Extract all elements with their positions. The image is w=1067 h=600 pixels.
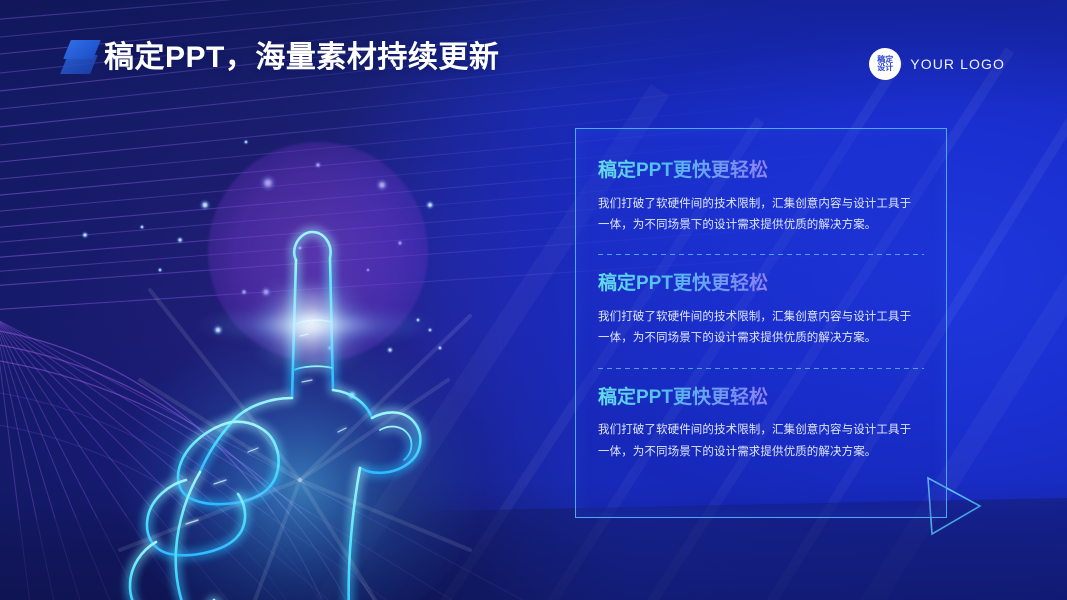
purple-glow-sphere-icon	[208, 142, 428, 362]
feature-body: 我们打破了软硬件间的技术限制，汇集创意内容与设计工具于 一体，为不同场景下的设计…	[598, 420, 924, 463]
brand-logo[interactable]: 稿定 设计 YOUR LOGO	[869, 48, 1005, 80]
feature-body-line: 一体，为不同场景下的设计需求提供优质的解决方案。	[598, 215, 924, 236]
feature-body-line: 一体，为不同场景下的设计需求提供优质的解决方案。	[598, 442, 924, 463]
hand-outline-svg	[0, 80, 520, 600]
logo-text: YOUR LOGO	[910, 56, 1005, 72]
feature-body: 我们打破了软硬件间的技术限制，汇集创意内容与设计工具于 一体，为不同场景下的设计…	[598, 194, 924, 237]
block-divider	[598, 368, 924, 369]
feature-body-line: 我们打破了软硬件间的技术限制，汇集创意内容与设计工具于	[598, 307, 924, 328]
slide-canvas: 稿定PPT，海量素材持续更新 稿定 设计 YOUR LOGO 稿定PPT更快更轻…	[0, 0, 1067, 600]
feature-block[interactable]: 稿定PPT更快更轻松 我们打破了软硬件间的技术限制，汇集创意内容与设计工具于 一…	[598, 272, 924, 349]
particles	[81, 139, 443, 401]
logo-badge-icon: 稿定 设计	[869, 48, 901, 80]
feature-heading: 稿定PPT更快更轻松	[598, 272, 924, 296]
page-title-text: 稿定PPT，海量素材持续更新	[104, 43, 499, 73]
block-divider	[598, 254, 924, 255]
feature-block[interactable]: 稿定PPT更快更轻松 我们打破了软硬件间的技术限制，汇集创意内容与设计工具于 一…	[598, 159, 924, 236]
page-title: 稿定PPT，海量素材持续更新	[64, 36, 499, 80]
light-burst-core	[245, 285, 375, 365]
feature-body: 我们打破了软硬件间的技术限制，汇集创意内容与设计工具于 一体，为不同场景下的设计…	[598, 307, 924, 350]
feature-body-line: 我们打破了软硬件间的技术限制，汇集创意内容与设计工具于	[598, 420, 924, 441]
feature-heading: 稿定PPT更快更轻松	[598, 386, 924, 410]
feature-heading: 稿定PPT更快更轻松	[598, 159, 924, 183]
feature-body-line: 一体，为不同场景下的设计需求提供优质的解决方案。	[598, 328, 924, 349]
neon-pointing-hand-illustration	[0, 80, 520, 600]
logo-badge-line2: 设计	[877, 64, 893, 72]
feature-block[interactable]: 稿定PPT更快更轻松 我们打破了软硬件间的技术限制，汇集创意内容与设计工具于 一…	[598, 386, 924, 463]
content-panel: 稿定PPT更快更轻松 我们打破了软硬件间的技术限制，汇集创意内容与设计工具于 一…	[575, 128, 947, 518]
title-decoration-icon	[64, 36, 98, 80]
light-burst-glow	[150, 270, 480, 380]
feature-body-line: 我们打破了软硬件间的技术限制，汇集创意内容与设计工具于	[598, 194, 924, 215]
